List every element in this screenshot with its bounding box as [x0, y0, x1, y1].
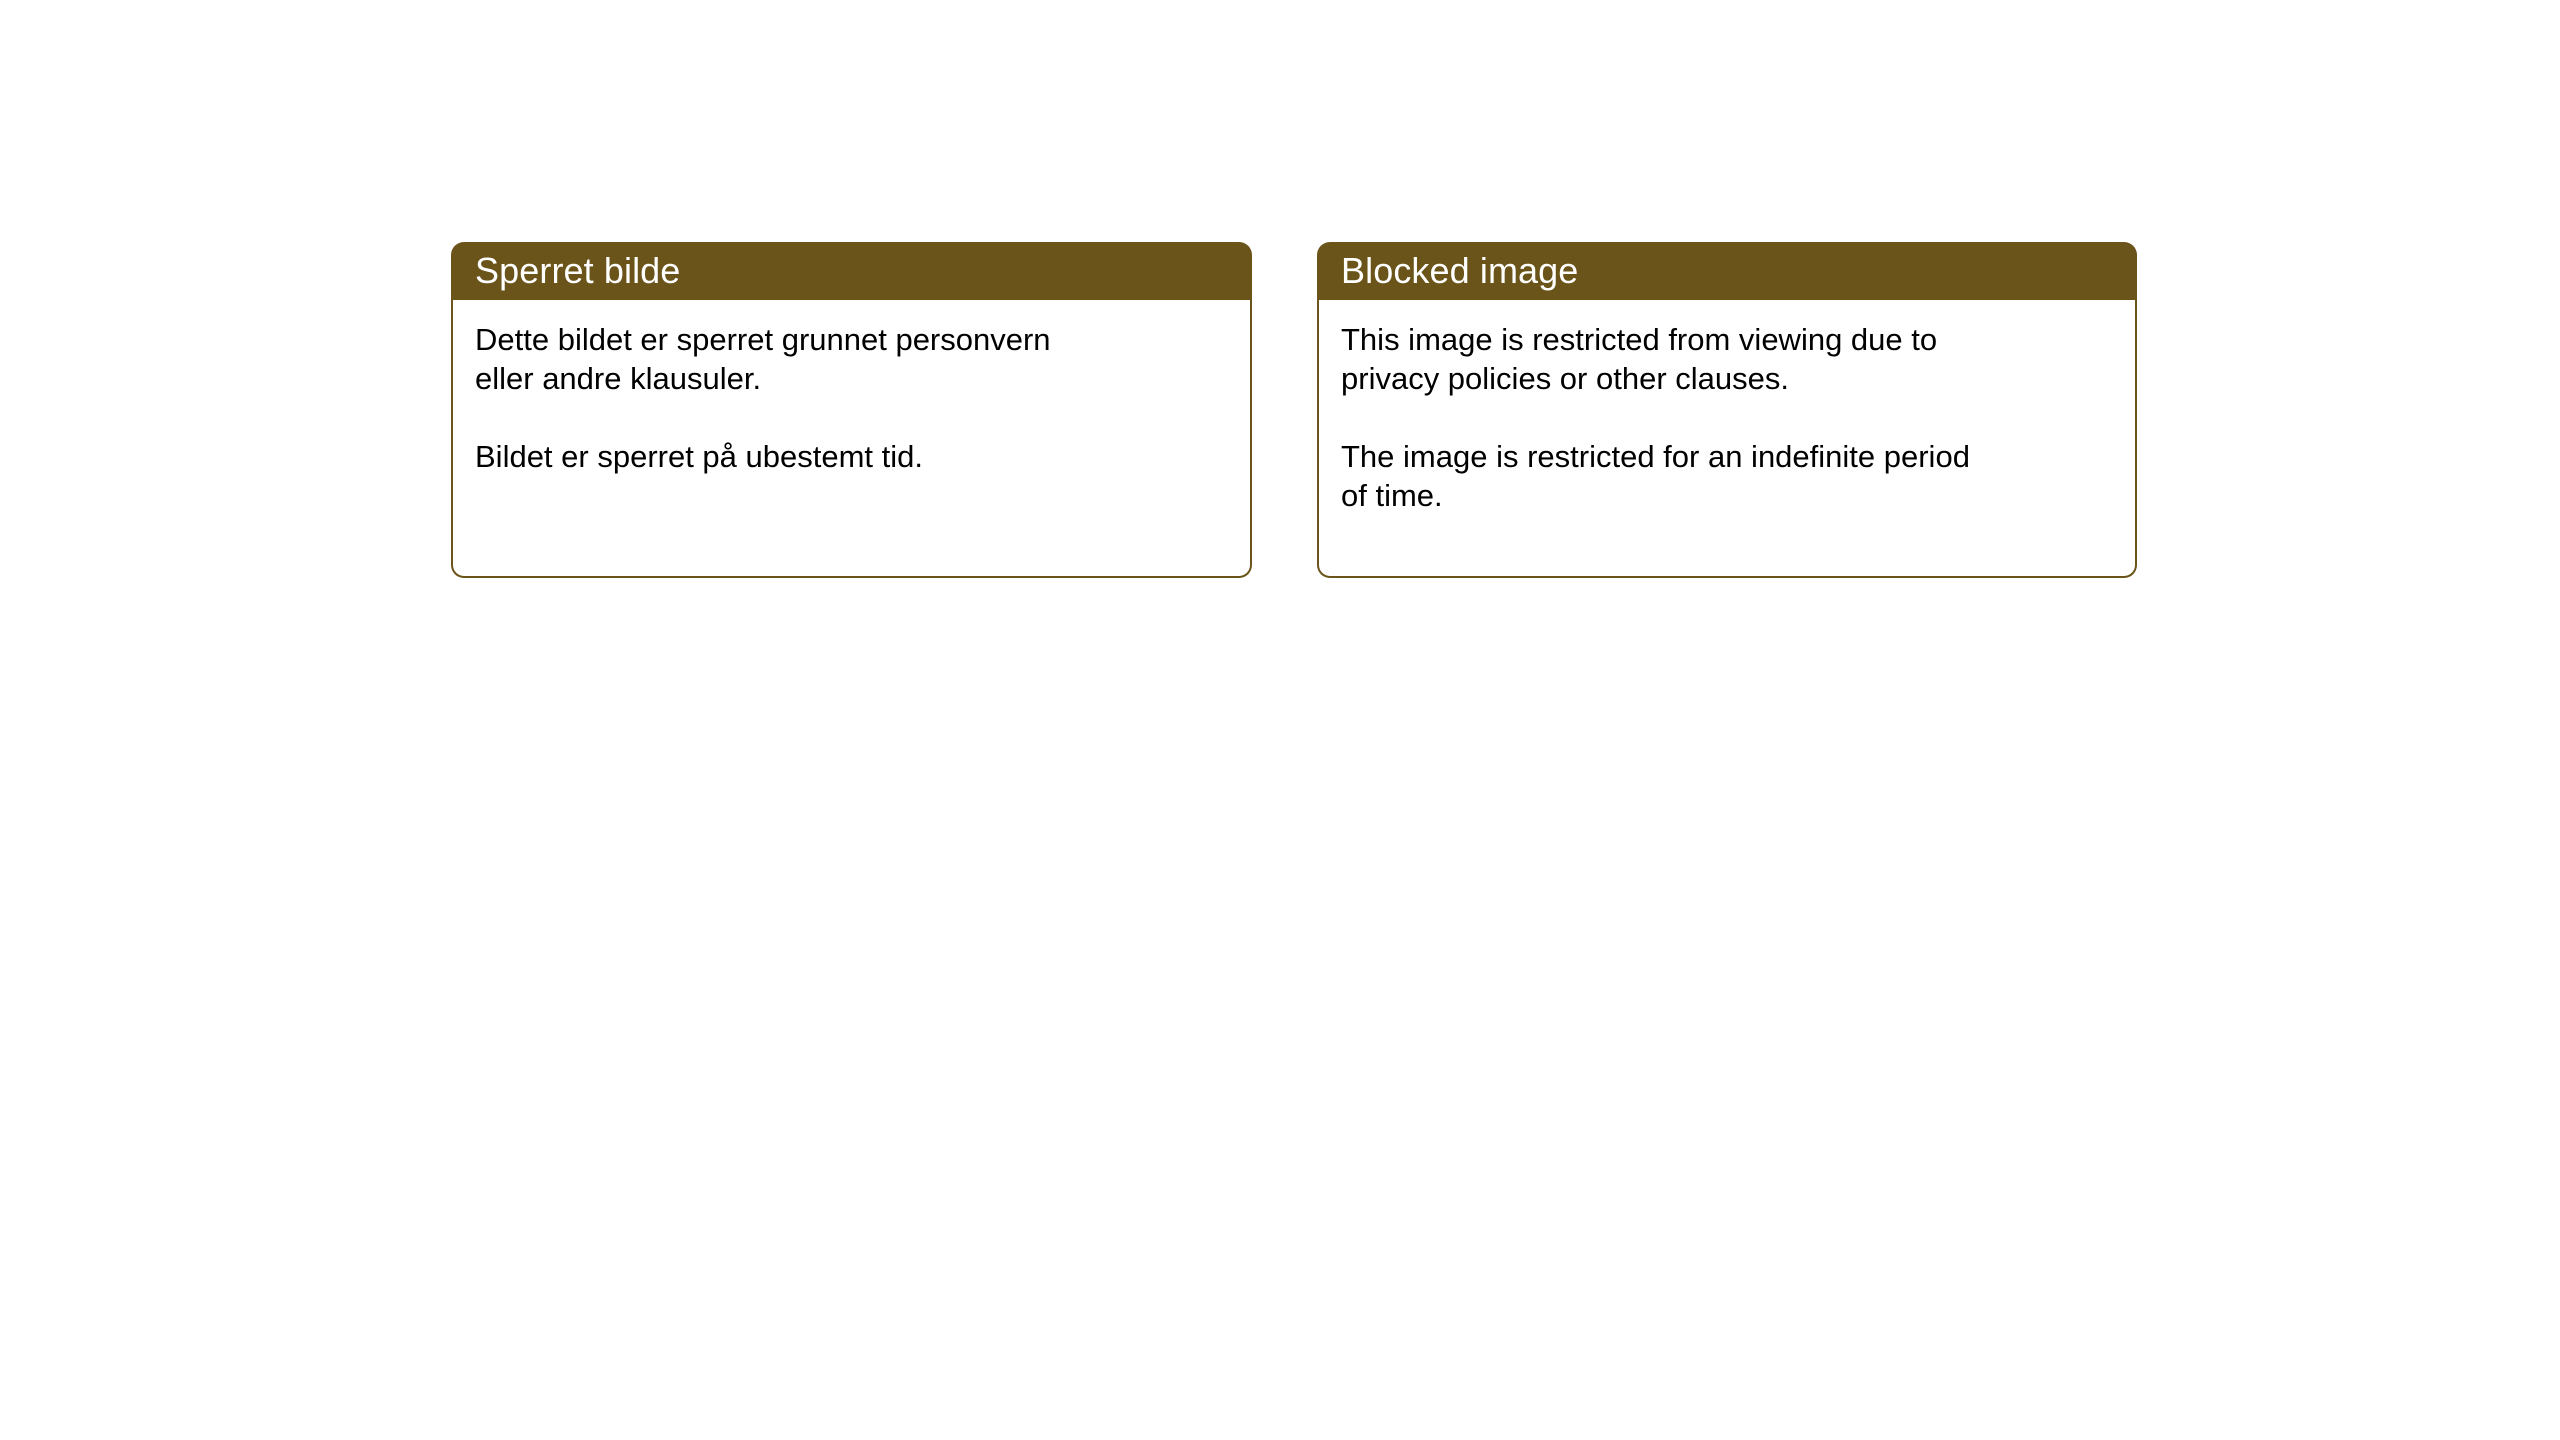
notice-body-english: This image is restricted from viewing du…	[1317, 300, 2137, 578]
notice-paragraph-duration-english: The image is restricted for an indefinit…	[1341, 437, 2113, 515]
notice-title-english: Blocked image	[1341, 251, 1578, 291]
notice-body-norwegian: Dette bildet er sperret grunnet personve…	[451, 300, 1252, 578]
blocked-image-notice-norwegian: Sperret bilde Dette bildet er sperret gr…	[451, 242, 1252, 578]
notice-paragraph-reason-english: This image is restricted from viewing du…	[1341, 320, 2113, 398]
notice-paragraph-duration-norwegian: Bildet er sperret på ubestemt tid.	[475, 437, 1228, 476]
notice-header-norwegian: Sperret bilde	[451, 242, 1252, 300]
notice-paragraph-reason-norwegian: Dette bildet er sperret grunnet personve…	[475, 320, 1228, 398]
blocked-image-notice-english: Blocked image This image is restricted f…	[1317, 242, 2137, 578]
notice-title-norwegian: Sperret bilde	[475, 251, 680, 291]
notice-stage: Sperret bilde Dette bildet er sperret gr…	[0, 0, 2560, 1440]
notice-header-english: Blocked image	[1317, 242, 2137, 300]
